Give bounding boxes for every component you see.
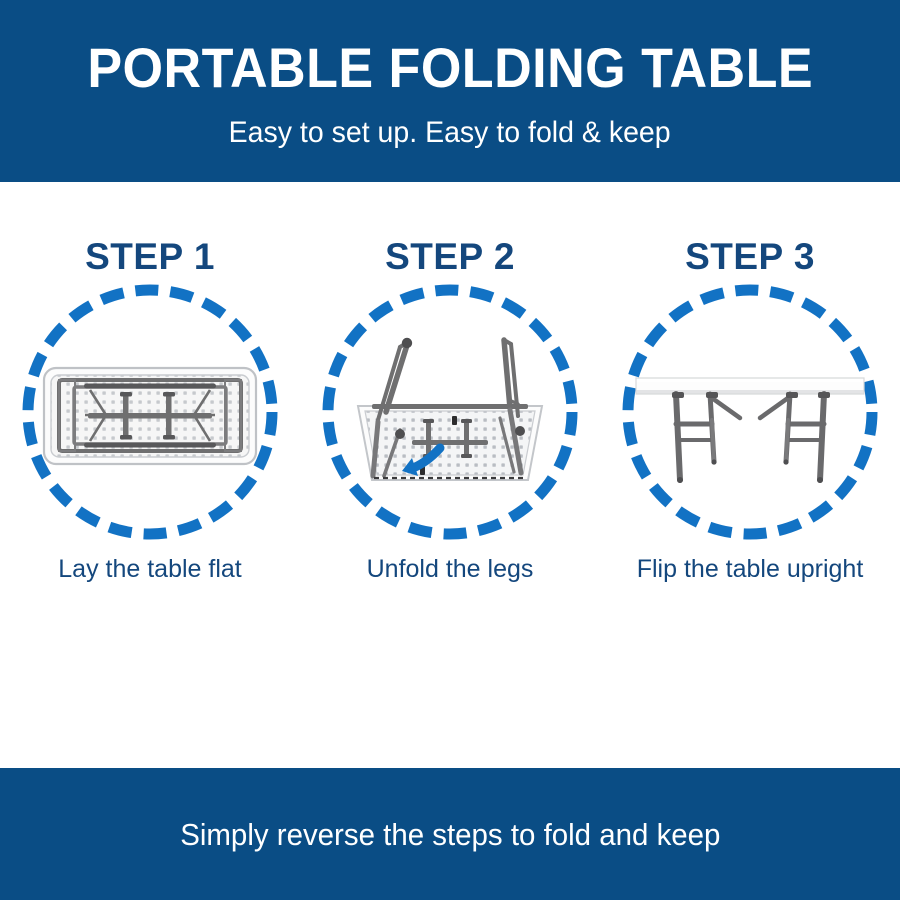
footer-text: Simply reverse the steps to fold and kee… (180, 819, 720, 850)
page-subtitle: Easy to set up. Easy to fold & keep (229, 118, 671, 148)
step-2-title: STEP 2 (385, 238, 515, 275)
table-unfolding-legs-icon (328, 290, 572, 534)
step-1-title: STEP 1 (85, 238, 215, 275)
step-3-illustration (619, 281, 881, 543)
table-upright-icon (628, 290, 872, 534)
step-2: STEP 2 (300, 238, 600, 585)
step-3: STEP 3 (600, 238, 900, 585)
step-1-illustration (19, 281, 281, 543)
step-2-caption: Unfold the legs (367, 553, 534, 585)
infographic-page: PORTABLE FOLDING TABLE Easy to set up. E… (0, 0, 900, 900)
steps-container: STEP 1 (0, 182, 900, 768)
header-banner: PORTABLE FOLDING TABLE Easy to set up. E… (0, 0, 900, 182)
step-3-caption: Flip the table upright (637, 553, 864, 585)
step-1: STEP 1 (0, 238, 300, 585)
step-2-illustration (319, 281, 581, 543)
folded-table-top-view-icon (28, 290, 272, 534)
footer-banner: Simply reverse the steps to fold and kee… (0, 768, 900, 900)
step-3-title: STEP 3 (685, 238, 815, 275)
page-title: PORTABLE FOLDING TABLE (87, 40, 813, 96)
step-1-caption: Lay the table flat (58, 553, 241, 585)
